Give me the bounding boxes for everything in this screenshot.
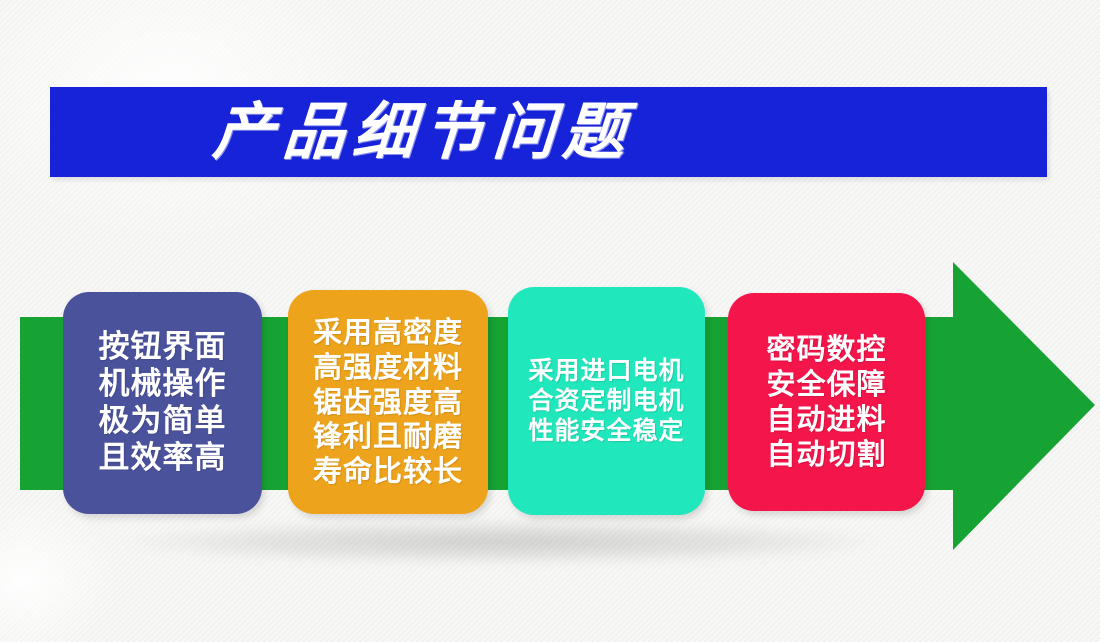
feature-card-text: 采用高密度 高强度材料 锯齿强度高 锋利且耐磨 寿命比较长: [313, 315, 463, 489]
cards-ground-shadow: [120, 520, 880, 564]
feature-card-text: 按钮界面 机械操作 极为简单 且效率高: [99, 329, 227, 478]
feature-card-motor[interactable]: 采用进口电机 合资定制电机 性能安全稳定: [508, 287, 705, 515]
feature-card-buttons-interface[interactable]: 按钮界面 机械操作 极为简单 且效率高: [63, 292, 262, 514]
slide-canvas: 产品细节问题 按钮界面 机械操作 极为简单 且效率高 采用高密度 高强度材料 锯…: [0, 0, 1100, 642]
feature-card-text: 密码数控 安全保障 自动进料 自动切割: [766, 332, 886, 471]
background-glow-bottom-left: [0, 500, 120, 642]
feature-card-material[interactable]: 采用高密度 高强度材料 锯齿强度高 锋利且耐磨 寿命比较长: [288, 290, 488, 514]
feature-card-text: 采用进口电机 合资定制电机 性能安全稳定: [528, 356, 684, 446]
page-title: 产品细节问题: [211, 101, 885, 163]
feature-card-cnc-safety[interactable]: 密码数控 安全保障 自动进料 自动切割: [728, 293, 925, 511]
title-banner: 产品细节问题: [50, 87, 1047, 177]
arrow-head-icon: [940, 262, 1095, 550]
